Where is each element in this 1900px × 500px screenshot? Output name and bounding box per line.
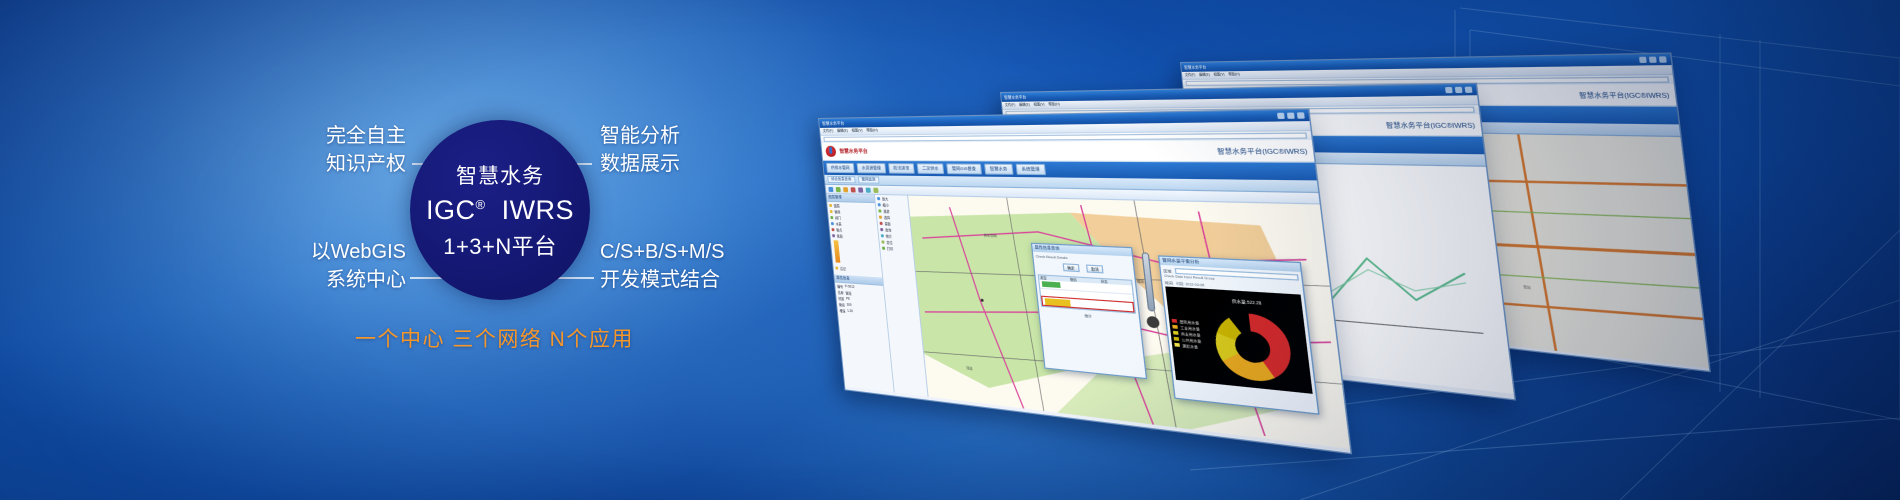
badge-brand-igc: IGC xyxy=(426,195,476,225)
menu-edit[interactable]: 编辑(E) xyxy=(1019,103,1030,108)
window-brandbar: 智慧水务平台 智慧水务平台(IGC®IWRS) xyxy=(821,140,1314,163)
feature-label-line2: 系统中心 xyxy=(296,266,406,294)
feature-label-top-left: 完全自主 知识产权 xyxy=(306,122,406,179)
attr-value: 300 xyxy=(846,303,851,307)
tree-item-label: 管点 xyxy=(836,227,842,232)
svg-text:河道: 河道 xyxy=(966,366,973,371)
query-result-dialog[interactable]: 属性信息查询 Check Result Details 确定 取消 类型 数值 … xyxy=(1031,243,1147,379)
pan-pad-icon[interactable] xyxy=(1146,316,1160,329)
hero-banner: 智慧水务平台 文件(F) 编辑(E) 视图(V) 帮助(H) 智慧水务平台 智慧… xyxy=(0,0,1900,500)
nav-item-3[interactable]: 二次供水 xyxy=(917,163,944,174)
donut-chart xyxy=(1211,310,1293,383)
subnav-item-0[interactable]: 综合信息查询 xyxy=(827,176,855,183)
badge-line-1: 智慧水务 xyxy=(456,160,544,190)
center-badge: 智慧水务 IGC® IWRS 1+3+N平台 xyxy=(410,120,590,300)
legend-item: 漏损水量 xyxy=(1174,342,1202,349)
pan-icon[interactable] xyxy=(843,187,848,192)
tree-item-label: 注记 xyxy=(840,265,846,270)
feature-label-line2: 开发模式结合 xyxy=(600,266,780,294)
nav-item-6[interactable]: 系统管理 xyxy=(1016,164,1046,175)
attr-key: 管径 xyxy=(839,301,845,307)
window-controls[interactable] xyxy=(1445,87,1472,94)
nav-item-4[interactable]: 管网GIS普查 xyxy=(946,163,982,174)
tree-item[interactable]: 注记 xyxy=(833,264,882,273)
pie-legend: 居民用水量 工业用水量 商业用水量 公共用水量 漏损水量 xyxy=(1172,318,1203,349)
tool-item-label: 查询 xyxy=(885,227,892,232)
svg-text:泵站: 泵站 xyxy=(1523,284,1531,290)
attr-key: 材质 xyxy=(838,295,844,301)
field-label-time: 时间: xyxy=(1165,280,1174,285)
dialog-ok-button[interactable]: 确定 xyxy=(1062,263,1080,272)
legend-gradient-swatch xyxy=(834,240,841,262)
feature-label-line1: C/S+B/S+M/S xyxy=(600,238,780,266)
tree-item-label: 图层 xyxy=(834,203,840,208)
pie-chart-title: 供水量:522.28 xyxy=(1196,295,1300,308)
tool-item[interactable]: 打印 xyxy=(880,244,913,252)
nav-item-5[interactable]: 智慧水务 xyxy=(984,164,1013,175)
tool-item-label: 量距 xyxy=(884,220,891,225)
dialog-body: Check Result Details 确定 取消 类型 数值 状态 xyxy=(1033,252,1140,325)
print-icon[interactable] xyxy=(873,187,878,192)
tool-item-label: 放大 xyxy=(882,196,889,201)
menu-view[interactable]: 视图(V) xyxy=(1213,72,1224,77)
menu-edit[interactable]: 编辑(E) xyxy=(1199,73,1210,78)
nav-item-0[interactable]: 供排水管网 xyxy=(826,163,855,173)
window-controls[interactable] xyxy=(1277,112,1305,119)
tool-item-label: 选择 xyxy=(884,214,891,219)
window-controls[interactable] xyxy=(1639,56,1667,63)
feature-label-bottom-left: 以WebGIS 系统中心 xyxy=(296,238,406,295)
badge-line-2: IGC® IWRS xyxy=(426,195,574,226)
select-icon[interactable] xyxy=(850,187,855,192)
water-balance-dialog[interactable]: 管网水量平衡分析 区域: Check Data Input Result Gro… xyxy=(1158,255,1320,415)
dialog-body: 区域: Check Data Input Result Group 时间: 时段… xyxy=(1160,265,1316,396)
app-window-front[interactable]: 智慧水务平台 文件(F) 编辑(E) 视图(V) 帮助(H) 智慧水务平台 智慧… xyxy=(818,108,1352,454)
attr-key: 编号 xyxy=(837,283,843,288)
registered-trademark-icon: ® xyxy=(475,197,485,212)
concept-diagram: 完全自主 知识产权 智能分析 数据展示 以WebGIS 系统中心 C/S+B/S… xyxy=(0,0,830,500)
dialog-cancel-button[interactable]: 取消 xyxy=(1086,265,1104,274)
tree-item[interactable]: 管段 xyxy=(830,232,878,240)
window-title: 智慧水务平台 xyxy=(1004,94,1027,100)
platform-title: 智慧水务平台(IGC®IWRS) xyxy=(1217,146,1308,156)
brand-label: 智慧水务平台 xyxy=(839,148,868,155)
feature-label-line1: 完全自主 xyxy=(306,122,406,150)
tree-item-label: 阀门 xyxy=(835,215,841,220)
tool-item-label: 漫游 xyxy=(883,208,890,213)
feature-label-bottom-right: C/S+B/S+M/S 开发模式结合 xyxy=(600,238,780,295)
feature-label-line1: 以WebGIS xyxy=(296,238,406,266)
platform-title: 智慧水务平台(IGC®IWRS) xyxy=(1385,120,1475,130)
attr-key: 埋深 xyxy=(839,308,845,314)
nav-item-2[interactable]: 防汛排涝 xyxy=(888,163,915,174)
zoom-out-icon[interactable] xyxy=(836,187,841,192)
attr-value: 管段 xyxy=(845,290,851,296)
feature-label-line1: 智能分析 xyxy=(600,122,770,150)
attr-key: 名称 xyxy=(837,289,843,295)
tree-item-label: 管网 xyxy=(834,209,840,214)
attr-value: PE xyxy=(846,296,850,300)
platform-title: 智慧水务平台(IGC®IWRS) xyxy=(1579,90,1670,100)
badge-line-3: 1+3+N平台 xyxy=(443,229,557,261)
menu-view[interactable]: 视图(V) xyxy=(851,128,862,133)
window-title: 智慧水务平台 xyxy=(1184,64,1207,70)
menu-file[interactable]: 文件(F) xyxy=(1185,73,1196,78)
menu-edit[interactable]: 编辑(E) xyxy=(837,129,848,134)
menu-view[interactable]: 视图(V) xyxy=(1033,102,1044,107)
measure-icon[interactable] xyxy=(858,187,863,192)
gis-workarea: 图层管理 图层 管网 阀门 水表 管点 管段 注记 属性信息 编号P-0012 … xyxy=(826,194,1350,449)
svg-text:供水管网: 供水管网 xyxy=(983,233,996,238)
tool-item-label: 打印 xyxy=(887,245,894,251)
feature-label-line2: 知识产权 xyxy=(306,150,406,178)
tree-item-label: 管段 xyxy=(837,233,843,238)
tagline: 一个中心 三个网络 N个应用 xyxy=(355,323,634,353)
tool-item-label: 统计 xyxy=(885,233,892,238)
feature-label-line2: 数据展示 xyxy=(600,150,770,178)
gis-map-canvas[interactable]: 供水管网加压站 污水厂河道 中心城区供水区域 管网压力监测点 属性信息查询 xyxy=(908,196,1350,449)
query-icon[interactable] xyxy=(866,187,871,192)
menu-help[interactable]: 帮助(H) xyxy=(1228,72,1240,77)
tool-item-label: 定位 xyxy=(886,239,893,244)
tree-item-label: 水表 xyxy=(835,221,841,226)
menu-help[interactable]: 帮助(H) xyxy=(1048,102,1060,107)
menu-file[interactable]: 文件(F) xyxy=(1005,103,1016,108)
menu-help[interactable]: 帮助(H) xyxy=(866,128,878,133)
tool-item-label: 缩小 xyxy=(882,202,889,207)
legend-label: 漏损水量 xyxy=(1182,343,1198,349)
badge-brand-iwrs: IWRS xyxy=(502,195,575,225)
subnav-item-1[interactable]: 管网监测 xyxy=(857,176,879,183)
attr-value: 1.20 xyxy=(847,309,853,314)
nav-item-1[interactable]: 水资源管理 xyxy=(857,163,887,173)
attr-value: P-0012 xyxy=(845,284,855,289)
feature-label-top-right: 智能分析 数据展示 xyxy=(600,122,770,179)
pie-chart-panel[interactable]: 居民用水量 工业用水量 商业用水量 公共用水量 漏损水量 供水量:522.28 xyxy=(1165,286,1312,393)
